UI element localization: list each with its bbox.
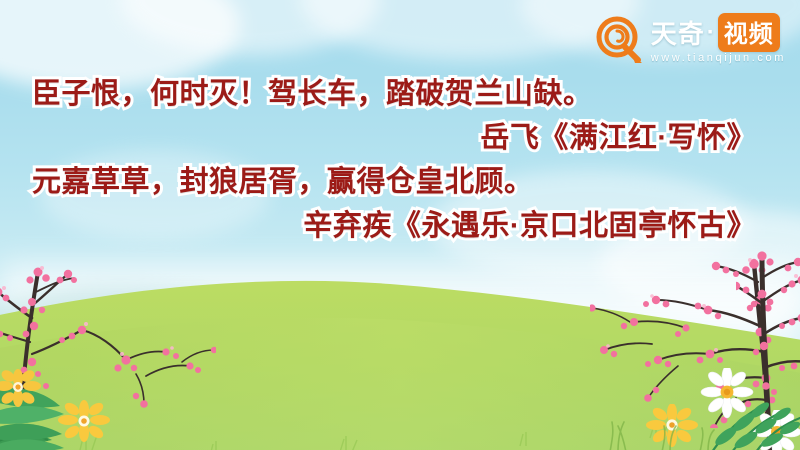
logo-video-badge: 视频 [718, 13, 780, 52]
logo-separator: · [707, 19, 715, 47]
logo-website-url: www.tianqijun.com [651, 52, 786, 64]
poem-line-1: 臣子恨，何时灭！驾长车，踏破贺兰山缺。 [26, 72, 774, 116]
logo-brand-row: 天奇 · 视频 [651, 17, 786, 49]
logo-brand-name: 天奇 [651, 14, 705, 51]
channel-logo-watermark[interactable]: 天奇 · 视频 www.tianqijun.com [594, 12, 786, 68]
poem-attribution-1: 岳飞《满江红·写怀》 [26, 116, 774, 160]
tianqi-q-logo-icon [594, 15, 644, 65]
grass-hill [0, 260, 800, 450]
poem-text-block: 臣子恨，何时灭！驾长车，踏破贺兰山缺。 岳飞《满江红·写怀》 元嘉草草，封狼居胥… [0, 72, 800, 248]
video-thumbnail-scene: 臣子恨，何时灭！驾长车，踏破贺兰山缺。 岳飞《满江红·写怀》 元嘉草草，封狼居胥… [0, 0, 800, 450]
poem-line-2: 元嘉草草，封狼居胥，赢得仓皇北顾。 [26, 160, 774, 204]
logo-text-group: 天奇 · 视频 www.tianqijun.com [651, 15, 786, 65]
poem-attribution-2: 辛弃疾《永遇乐·京口北固亭怀古》 [26, 204, 774, 248]
